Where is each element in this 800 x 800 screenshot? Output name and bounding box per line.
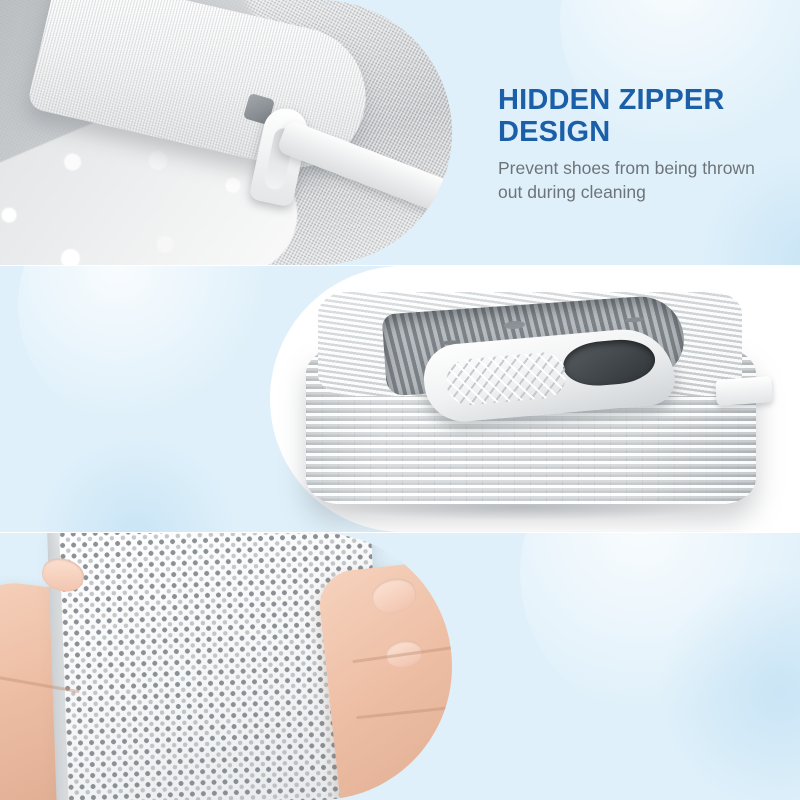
feature-image-side-zipper [270, 266, 800, 532]
decorative-blob [520, 533, 800, 723]
feature-panel-side-zipper: SIDE ZIPPER Easier to put shoes into sho… [0, 266, 800, 532]
shoe-washing-bag [306, 292, 756, 504]
panel-subheading: Prevent shoes from being thrown out duri… [498, 157, 790, 205]
feature-image-hidden-zipper [0, 0, 452, 265]
feature-image-mesh [0, 533, 452, 800]
decorative-blob [18, 266, 268, 430]
infographic-page: HIDDEN ZIPPER DESIGN Prevent shoes from … [0, 0, 800, 800]
feature-panel-high-permeability-mesh: HIGH PERMEABILITY MESH Easier to filter … [0, 533, 800, 800]
panel-heading: HIDDEN ZIPPER DESIGN [498, 84, 790, 148]
decorative-blob [36, 436, 236, 532]
bag-side-zipper-pull [715, 376, 773, 406]
feature-panel-hidden-zipper: HIDDEN ZIPPER DESIGN Prevent shoes from … [0, 0, 800, 265]
feature-image-stage [270, 266, 800, 532]
feature-text-hidden-zipper: HIDDEN ZIPPER DESIGN Prevent shoes from … [498, 84, 790, 205]
decorative-blob [660, 573, 800, 800]
